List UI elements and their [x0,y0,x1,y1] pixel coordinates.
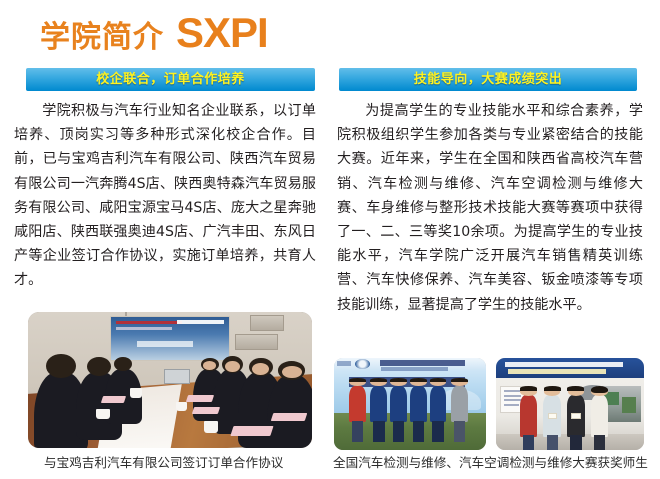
awardee-hair [591,386,608,394]
student-figure [410,386,427,423]
paper-cup-icon [96,409,110,420]
awardee-legs [594,435,605,450]
banner-text-line-2 [508,369,606,374]
air-conditioner-icon [235,334,278,350]
student-hair [349,378,366,382]
photo-content [334,358,486,450]
attendee-head [222,356,243,373]
caption-competition-awardees: 全国汽车检测与维修、汽车空调检测与维修大赛获奖师生 [333,457,648,470]
student-figure [451,386,468,423]
student-legs [373,421,384,442]
certificate [571,413,580,420]
attendee-face [282,366,302,378]
awardee-legs [547,435,558,450]
student-figure [390,386,407,423]
section-bar-label: 技能导向，大赛成绩突出 [414,73,563,86]
signing-ceremony-photo [28,312,312,448]
attendee-head [87,357,111,376]
screen-text-line-1 [116,321,182,324]
student-hair [410,378,427,382]
body-text-school-enterprise: 学院积极与汽车行业知名企业联系，以订单培养、顶岗实习等多种形式深化校企合作。目前… [14,99,316,293]
attendee-head [278,361,306,380]
document-on-table [231,426,274,436]
awardee-figure [543,395,561,437]
student-hair [451,378,468,382]
equipment-panel [622,397,635,413]
competition-2016-photo [496,358,644,450]
paper-cup-icon [176,402,187,412]
section-bar-label: 校企联合，订单合作培养 [96,73,245,86]
projection-screen [110,316,229,361]
page-title-chinese: 学院简介 [40,23,164,53]
banner-text-line-1 [505,362,623,367]
section-bar-skills-competition: 技能导向，大赛成绩突出 [339,68,637,91]
document-on-table [186,395,214,402]
awardee-figure [591,395,609,437]
banner-text-line-1 [380,360,465,366]
caption-signing-ceremony: 与宝鸡吉利汽车有限公司签订订单合作协议 [44,457,283,470]
awardee-hair [520,386,537,391]
document-on-table [271,413,308,421]
page-title-logotype: SXPI [176,12,268,54]
attendee-head [46,354,76,378]
attendee [267,375,312,448]
student-hair [370,378,387,382]
competition-2015-photo [334,358,486,450]
awardee-legs [570,435,581,450]
awardee-legs [523,435,534,450]
awardee-hair [544,386,561,391]
student-figure [349,386,366,423]
sponsor-logo [337,361,351,367]
photo-content [496,358,644,450]
page-title: 学院简介 SXPI [40,12,268,62]
air-vent-icon [250,315,284,331]
student-legs [432,421,443,442]
photo-content [28,312,312,448]
info-board-line [504,395,521,397]
screen-title-text [177,320,224,325]
attendee-face [203,361,216,370]
awardee-hair [567,386,584,391]
laptop-icon [164,369,190,384]
paper-cup-icon [130,388,141,398]
document-on-table [192,407,220,414]
section-bar-school-enterprise: 校企联合，订单合作培养 [26,68,315,91]
body-text-skills-competition: 为提高学生的专业技能水平和综合素养，学院积极组织学生参加各类与专业紧密结合的技能… [337,99,643,317]
student-legs [352,421,363,442]
student-hair [390,378,407,382]
student-legs [454,421,465,442]
student-figure [370,386,387,423]
competition-banner [496,358,644,378]
student-legs [393,421,404,442]
info-board-line [504,404,519,406]
banner-subtext [381,367,448,371]
awardee-figure [567,395,585,437]
attendee-head [114,357,132,371]
awardee-figure [520,395,538,437]
screen-logo [137,341,193,347]
screen-text-line-2 [116,327,172,330]
attendee-head [249,358,273,376]
student-hair [430,378,447,382]
paper-cup-icon [204,421,218,433]
attendee-head [201,358,219,371]
document-on-table [101,396,126,403]
attendee-face [225,361,240,372]
certificate [548,413,557,420]
attendee-face [252,363,269,375]
student-legs [413,421,424,442]
student-figure [430,386,447,423]
